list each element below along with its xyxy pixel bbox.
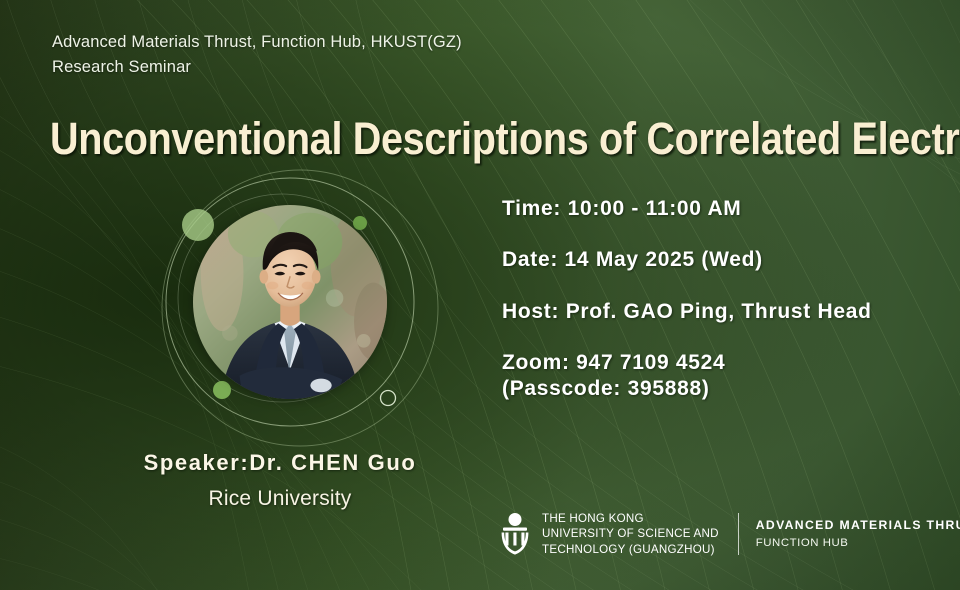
speaker-name: Speaker:Dr. CHEN Guo <box>60 450 500 476</box>
amt-title: ADVANCED MATERIALS THRUST <box>756 518 960 534</box>
logo-lockup: THE HONG KONG UNIVERSITY OF SCIENCE AND … <box>497 508 960 560</box>
seminar-poster: Advanced Materials Thrust, Function Hub,… <box>0 0 960 590</box>
detail-time: Time: 10:00 - 11:00 AM <box>502 196 872 222</box>
hkust-logo-icon <box>497 512 533 556</box>
decorative-dot-large <box>182 209 214 241</box>
speaker-block: Speaker:Dr. CHEN Guo Rice University <box>60 450 500 511</box>
detail-host: Host: Prof. GAO Ping, Thrust Head <box>502 299 872 325</box>
header-text: Advanced Materials Thrust, Function Hub,… <box>52 30 462 80</box>
decorative-dot-outline <box>381 391 396 406</box>
amt-logo-text: ADVANCED MATERIALS THRUST FUNCTION HUB <box>756 518 960 551</box>
hkust-line-3: TECHNOLOGY (GUANGZHOU) <box>542 542 719 557</box>
amt-subtitle: FUNCTION HUB <box>756 536 960 551</box>
speaker-affiliation: Rice University <box>60 487 500 511</box>
hkust-line-2: UNIVERSITY OF SCIENCE AND <box>542 526 719 541</box>
speaker-photo <box>193 205 387 399</box>
event-details: Time: 10:00 - 11:00 AM Date: 14 May 2025… <box>502 196 872 402</box>
detail-zoom-passcode: (Passcode: 395888) <box>502 376 872 402</box>
header-line-2: Research Seminar <box>52 55 462 80</box>
detail-zoom: Zoom: 947 7109 4524 (Passcode: 395888) <box>502 350 872 403</box>
header-line-1: Advanced Materials Thrust, Function Hub,… <box>52 30 462 55</box>
detail-date: Date: 14 May 2025 (Wed) <box>502 247 872 273</box>
decorative-dot-small-left <box>213 381 231 399</box>
page-title: Unconventional Descriptions of Correlate… <box>50 115 816 162</box>
logo-divider <box>738 513 739 555</box>
hkust-logo-text: THE HONG KONG UNIVERSITY OF SCIENCE AND … <box>542 511 719 557</box>
decorative-dot-small-top <box>353 216 367 230</box>
hkust-line-1: THE HONG KONG <box>542 511 719 526</box>
speaker-portrait-group <box>150 180 450 440</box>
detail-zoom-id: Zoom: 947 7109 4524 <box>502 350 872 376</box>
